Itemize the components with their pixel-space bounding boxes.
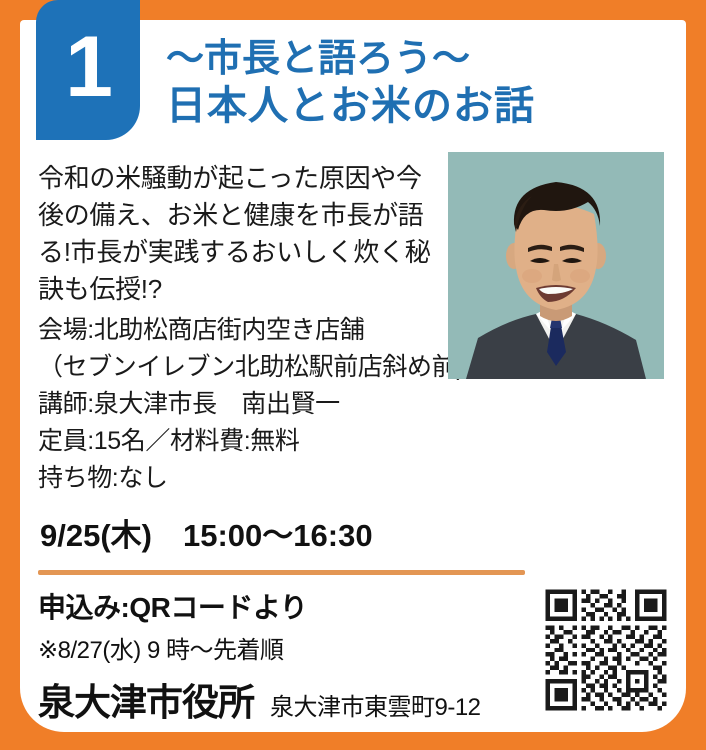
title-block: 〜市長と語ろう〜 日本人とお米のお話 <box>166 36 586 131</box>
application-note: ※8/27(水) 9 時〜先着順 <box>38 630 284 665</box>
badge-number-label: 1 <box>65 24 111 110</box>
section-divider <box>38 570 525 575</box>
event-details: 会場:北助松商店街内空き店舗 （セブンイレブン北助松駅前店斜め前) 講師:泉大津… <box>38 312 458 497</box>
footer-organization-line: 泉大津市役所 泉大津市東雲町9-12 <box>38 672 481 726</box>
detail-capacity-fee: 定員:15名／材料費:無料 <box>38 423 458 460</box>
detail-venue: 会場:北助松商店街内空き店舗 <box>38 312 458 349</box>
detail-lecturer: 講師:泉大津市長 南出賢一 <box>38 386 458 423</box>
event-description: 令和の米騒動が起こった原因や今後の備え、お米と健康を市長が語る!市長が実践するお… <box>38 160 438 308</box>
organization-address: 泉大津市東雲町9-12 <box>270 687 481 722</box>
number-badge: 1 <box>36 0 140 140</box>
event-flyer: 1 〜市長と語ろう〜 日本人とお米のお話 令和の米騒動が起こった原因や今後の備え… <box>0 0 706 750</box>
title-line-2: 日本人とお米のお話 <box>166 82 586 131</box>
qr-code[interactable] <box>541 585 671 715</box>
qr-code-matrix <box>541 585 671 715</box>
speaker-portrait-photo <box>448 152 664 379</box>
detail-venue-landmark: （セブンイレブン北助松駅前店斜め前) <box>38 349 458 386</box>
event-datetime: 9/25(木) 15:00〜16:30 <box>40 510 373 555</box>
portrait-illustration <box>448 152 664 379</box>
title-line-1: 〜市長と語ろう〜 <box>166 36 586 82</box>
application-method: 申込み:QRコードより <box>38 586 307 626</box>
organization-name: 泉大津市役所 <box>38 672 254 726</box>
detail-bring: 持ち物:なし <box>38 460 458 497</box>
